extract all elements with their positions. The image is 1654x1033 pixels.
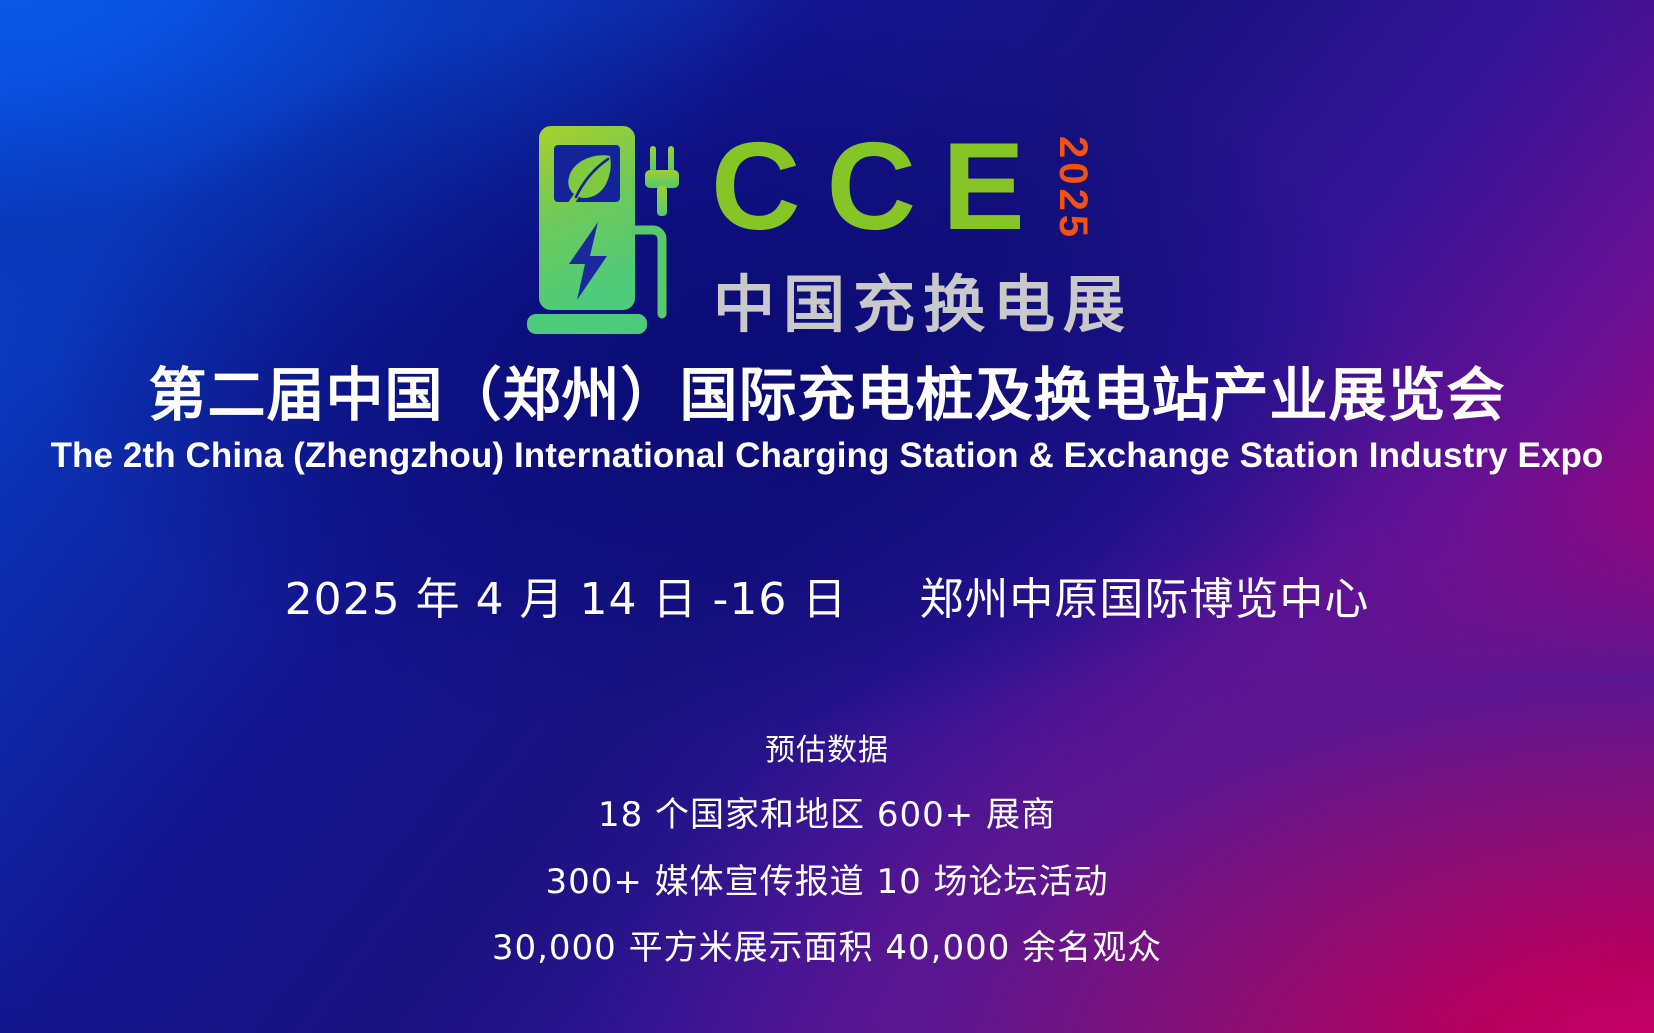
logo-block: CCE 2025 中国充换电展 [0,118,1654,344]
logo-year: 2025 [1053,136,1093,241]
ev-charging-station-icon [521,118,693,338]
event-date: 2025 年 4 月 14 日 -16 日 [285,563,848,627]
banner-content: CCE 2025 中国充换电展 第二届中国（郑州）国际充电桩及换电站产业展览会 … [0,0,1654,1033]
logo-acronym: CCE [705,130,1051,244]
title-block: 第二届中国（郑州）国际充电桩及换电站产业展览会 The 2th China (Z… [0,364,1654,477]
stats-heading: 预估数据 [765,728,889,773]
stats-line-3: 30,000 平方米展示面积 40,000 余名观众 [492,922,1162,975]
stats-line-2: 300+ 媒体宣传报道 10 场论坛活动 [545,856,1108,909]
logo-text-column: CCE 2025 中国充换电展 [705,118,1133,344]
logo-inner: CCE 2025 中国充换电展 [521,118,1133,344]
event-venue: 郑州中原国际博览中心 [919,563,1369,627]
stats-block: 预估数据 18 个国家和地区 600+ 展商 300+ 媒体宣传报道 10 场论… [0,728,1654,975]
logo-chinese-name: 中国充换电展 [705,254,1133,344]
title-english: The 2th China (Zhengzhou) International … [0,435,1654,477]
logo-acronym-row: CCE 2025 [705,130,1133,244]
date-venue-row: 2025 年 4 月 14 日 -16 日 郑州中原国际博览中心 [0,563,1654,627]
expo-promo-banner: CCE 2025 中国充换电展 第二届中国（郑州）国际充电桩及换电站产业展览会 … [0,0,1654,1033]
title-chinese: 第二届中国（郑州）国际充电桩及换电站产业展览会 [0,364,1654,427]
stats-line-1: 18 个国家和地区 600+ 展商 [598,789,1056,842]
charging-plug-icon [650,146,656,172]
